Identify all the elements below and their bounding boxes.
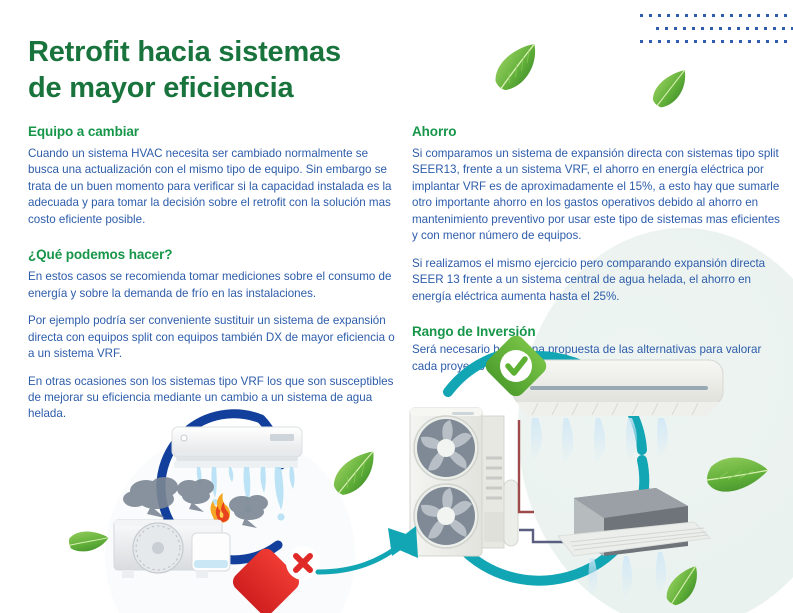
dot: [721, 14, 724, 17]
dot: [640, 14, 643, 17]
dot: [667, 14, 670, 17]
dot: [730, 40, 733, 43]
dot: [701, 27, 704, 30]
section-heading: Equipo a cambiar: [28, 124, 396, 139]
dot: [764, 27, 767, 30]
section-ahorro: Ahorro Si comparamos un sistema de expan…: [412, 124, 784, 305]
dot: [775, 40, 778, 43]
dot: [676, 40, 679, 43]
dot: [766, 14, 769, 17]
leaf-icon: [66, 527, 108, 559]
page-title-line-1: Retrofit hacia sistemas: [28, 34, 428, 70]
leaf-icon: [648, 73, 694, 109]
dot: [667, 40, 670, 43]
dot: [748, 40, 751, 43]
infographic-page: Retrofit hacia sistemas de mayor eficien…: [0, 0, 793, 613]
dot: [685, 40, 688, 43]
dot: [766, 40, 769, 43]
dot-row: [640, 14, 793, 18]
dot: [703, 40, 706, 43]
dot-row: [640, 27, 793, 31]
cold-air-flow: [531, 418, 668, 464]
leaf-icon: [489, 48, 547, 92]
dot: [676, 14, 679, 17]
fan-upper: [414, 416, 478, 480]
dot: [694, 40, 697, 43]
dot: [649, 40, 652, 43]
page-title: Retrofit hacia sistemas de mayor eficien…: [28, 34, 428, 107]
dot: [658, 14, 661, 17]
section-paragraph: Cuando un sistema HVAC necesita ser camb…: [28, 146, 396, 228]
dot: [757, 14, 760, 17]
dot: [773, 27, 776, 30]
dot: [757, 40, 760, 43]
dot: [755, 27, 758, 30]
dot: [721, 40, 724, 43]
dot: [737, 27, 740, 30]
dot: [719, 27, 722, 30]
dot: [730, 14, 733, 17]
section-heading: ¿Qué podemos hacer?: [28, 247, 396, 262]
dot: [656, 27, 659, 30]
dot: [685, 14, 688, 17]
dot: [739, 40, 742, 43]
section-que-podemos-hacer: ¿Qué podemos hacer? En estos casos se re…: [28, 247, 396, 423]
dot: [784, 40, 787, 43]
dot-grid-decoration: [640, 14, 793, 53]
dot: [640, 40, 643, 43]
fan-lower: [414, 484, 478, 548]
dot: [710, 27, 713, 30]
page-title-line-2: de mayor eficiencia: [28, 70, 428, 106]
dot: [703, 14, 706, 17]
flame-icon: [211, 493, 231, 523]
outdoor-condenser-unit: [114, 520, 230, 578]
dot: [665, 27, 668, 30]
section-paragraph: Si realizamos el mismo ejercicio pero co…: [412, 256, 784, 305]
dot: [746, 27, 749, 30]
leaf-icon: [661, 570, 707, 606]
leaf-icon: [704, 448, 762, 510]
left-text-column: Equipo a cambiar Cuando un sistema HVAC …: [28, 124, 396, 423]
vrf-outdoor-unit-dual-fan: [410, 408, 518, 556]
dot: [728, 27, 731, 30]
dot: [739, 14, 742, 17]
leaf-icon: [328, 455, 384, 497]
dot: [658, 40, 661, 43]
ring-arrow-head: [390, 526, 418, 558]
dot: [674, 27, 677, 30]
dot: [775, 14, 778, 17]
dot: [694, 14, 697, 17]
section-heading: Ahorro: [412, 124, 784, 139]
section-paragraph: En estos casos se recomienda tomar medic…: [28, 269, 396, 302]
section-equipo-a-cambiar: Equipo a cambiar Cuando un sistema HVAC …: [28, 124, 396, 228]
dot: [683, 27, 686, 30]
dot-row: [640, 40, 793, 44]
dot: [712, 14, 715, 17]
dot: [782, 27, 785, 30]
dot: [748, 14, 751, 17]
section-paragraph: Si comparamos un sistema de expansión di…: [412, 146, 784, 245]
dot: [649, 14, 652, 17]
dot: [692, 27, 695, 30]
dot: [784, 14, 787, 17]
dot: [712, 40, 715, 43]
section-paragraph: Por ejemplo podría ser conveniente susti…: [28, 313, 396, 362]
